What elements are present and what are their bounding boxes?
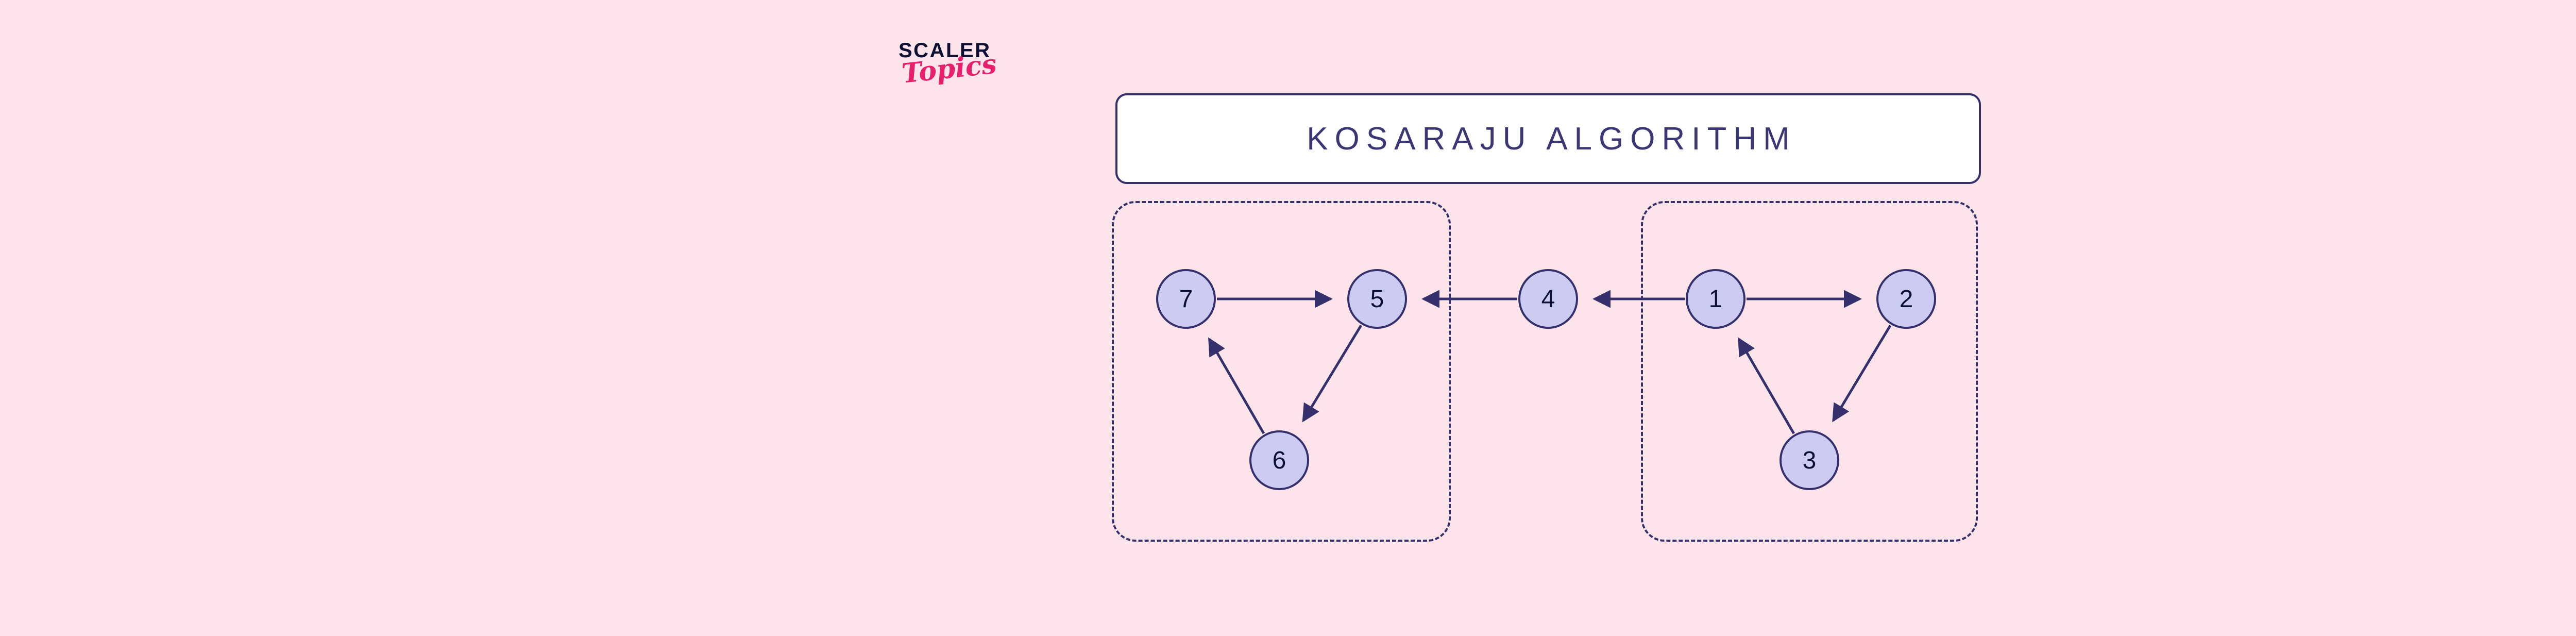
page-title: KOSARAJU ALGORITHM [1300, 121, 1797, 157]
scc-group-right [1641, 201, 1978, 542]
graph-node-1[interactable]: 1 [1686, 269, 1745, 329]
logo-wordmark-topics: Topics [901, 51, 998, 88]
graph-node-4[interactable]: 4 [1518, 269, 1578, 329]
scc-group-left [1112, 201, 1451, 542]
graph-node-2[interactable]: 2 [1876, 269, 1936, 329]
title-panel: KOSARAJU ALGORITHM [1115, 93, 1981, 184]
graph-node-3[interactable]: 3 [1780, 430, 1839, 490]
graph-node-6[interactable]: 6 [1249, 430, 1309, 490]
graph-node-5[interactable]: 5 [1347, 269, 1407, 329]
scaler-topics-logo: SCALER Topics [896, 40, 1051, 123]
diagram-canvas: SCALER Topics KOSARAJU ALGORITHM 7564123 [0, 0, 2576, 636]
graph-node-7[interactable]: 7 [1156, 269, 1216, 329]
